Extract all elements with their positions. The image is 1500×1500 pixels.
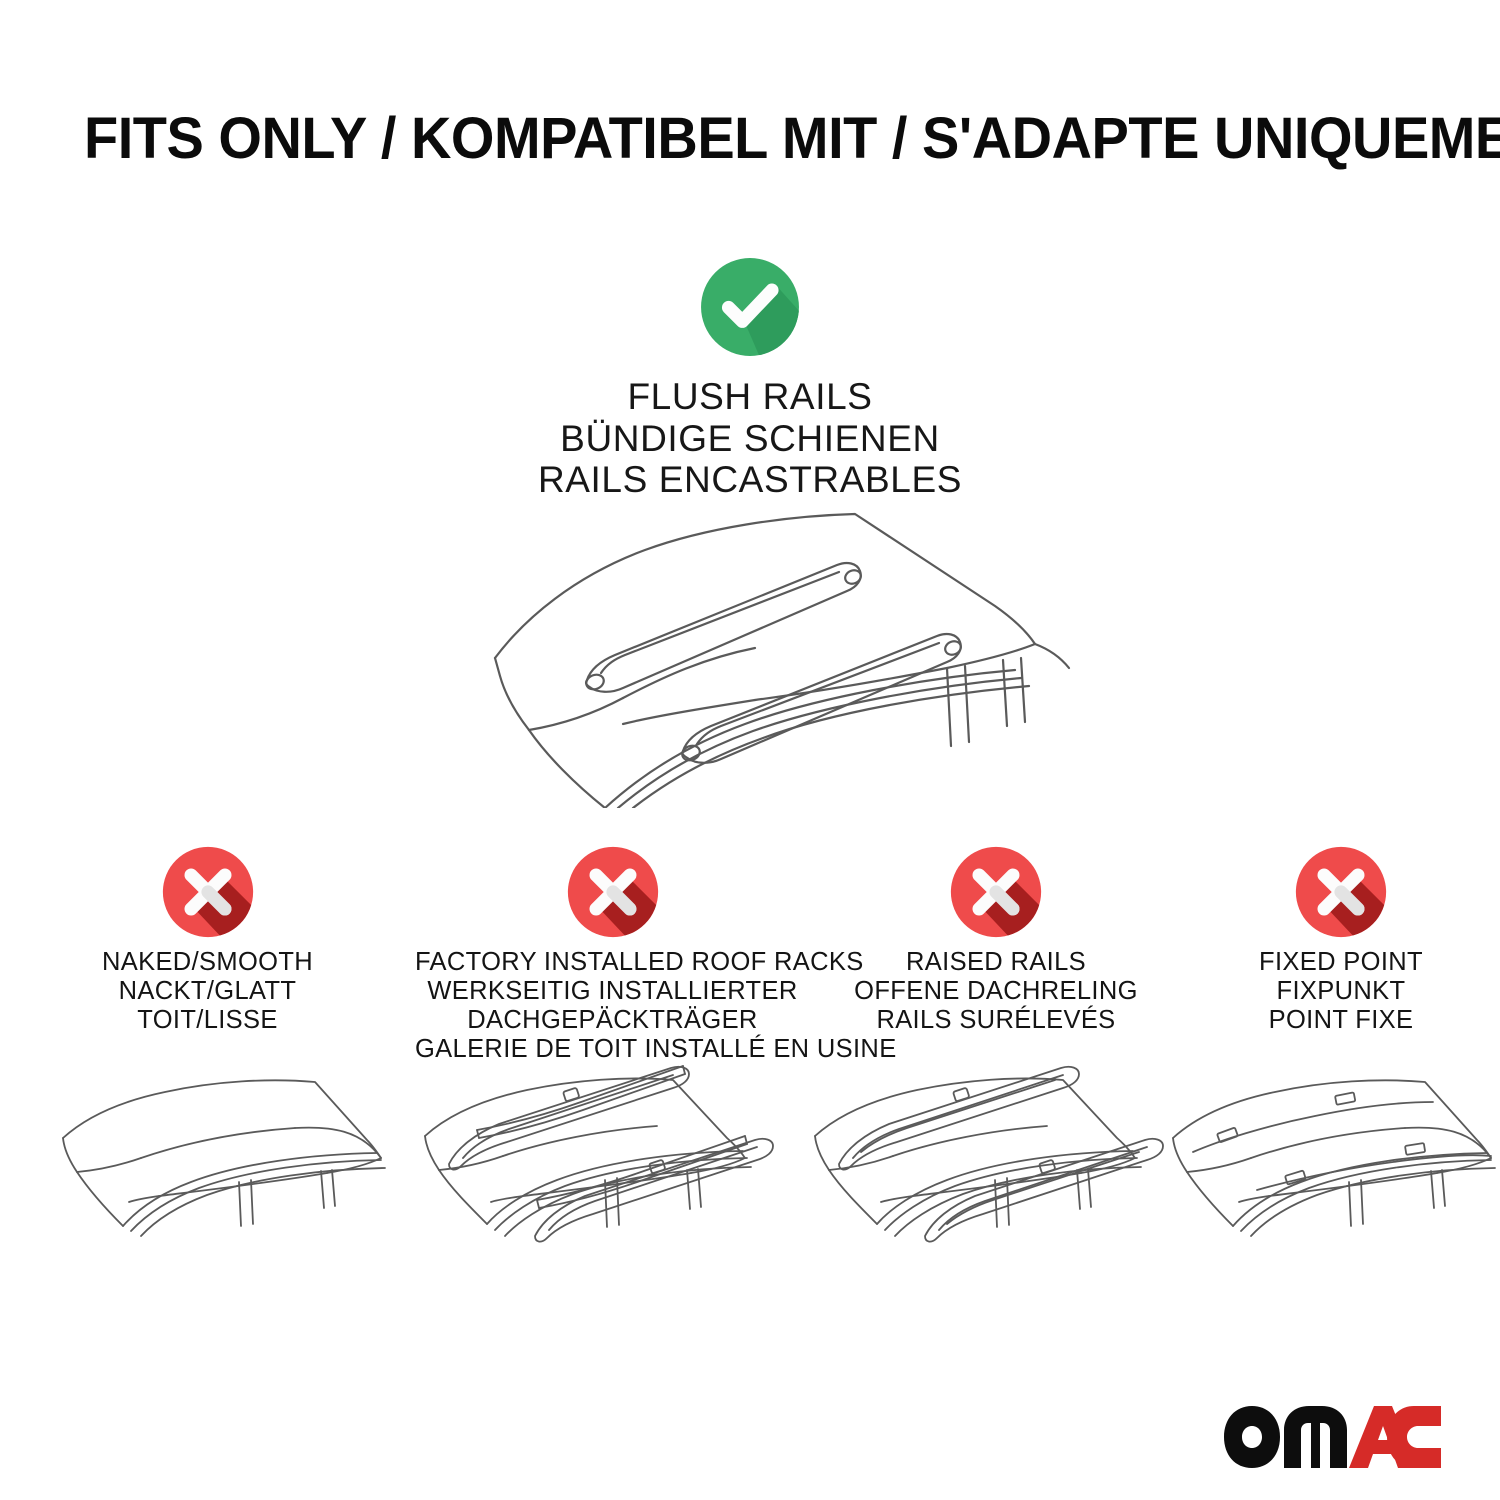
incompatible-column-factory-roof-racks: FACTORY INSTALLED ROOF RACKS WERKSEITIG … [415,845,810,1064]
incompatible-label-group: FIXED POINT FIXPUNKT POINT FIXE [1182,948,1500,1035]
incompatible-label-en: FACTORY INSTALLED ROOF RACKS [415,948,810,977]
x-circle-icon [161,845,255,939]
incompatible-label-de: FIXPUNKT [1182,977,1500,1006]
incompatible-label-de-1: WERKSEITIG INSTALLIERTER [415,977,810,1006]
incompatible-label-en: NAKED/SMOOTH [0,948,415,977]
car-roof-naked-illustration [55,1058,395,1283]
compatible-label-en: FLUSH RAILS [0,376,1500,418]
incompatible-section: NAKED/SMOOTH NACKT/GLATT TOIT/LISSE FACT… [0,845,1500,1064]
incompatible-label-de: NACKT/GLATT [0,977,415,1006]
incompatible-label-de-2: DACHGEPÄCKTRÄGER [415,1006,810,1035]
x-circle-icon [949,845,1043,939]
compatible-label-group: FLUSH RAILS BÜNDIGE SCHIENEN RAILS ENCAS… [0,376,1500,501]
incompatible-label-group: NAKED/SMOOTH NACKT/GLATT TOIT/LISSE [0,948,415,1035]
car-roof-flush-rails-illustration [455,498,1075,808]
incompatible-label-group: RAISED RAILS OFFENE DACHRELING RAILS SUR… [810,948,1182,1035]
incompatible-label-en: RAISED RAILS [810,948,1182,977]
incompatible-label-fr: TOIT/LISSE [0,1006,415,1035]
incompatible-label-en: FIXED POINT [1182,948,1500,977]
incompatible-column-fixed-point: FIXED POINT FIXPUNKT POINT FIXE [1182,845,1500,1064]
x-circle-icon [1294,845,1388,939]
compatible-label-fr: RAILS ENCASTRABLES [0,459,1500,501]
car-roof-raised-rails-illustration [805,1052,1180,1284]
incompatible-label-group: FACTORY INSTALLED ROOF RACKS WERKSEITIG … [415,948,810,1064]
car-roof-fixed-point-illustration [1165,1058,1500,1286]
incompatible-column-naked-smooth: NAKED/SMOOTH NACKT/GLATT TOIT/LISSE [0,845,415,1064]
incompatible-label-fr: RAILS SURÉLEVÉS [810,1006,1182,1035]
compatible-section: FLUSH RAILS BÜNDIGE SCHIENEN RAILS ENCAS… [0,256,1500,501]
logo-letter-m [1284,1406,1347,1468]
page-title: FITS ONLY / KOMPATIBEL MIT / S'ADAPTE UN… [84,108,1377,170]
incompatible-label-de: OFFENE DACHRELING [810,977,1182,1006]
incompatible-column-raised-rails: RAISED RAILS OFFENE DACHRELING RAILS SUR… [810,845,1182,1064]
logo-letter-o [1224,1406,1280,1468]
car-roof-factory-racks-illustration [415,1052,790,1284]
x-circle-icon [566,845,660,939]
check-circle-icon [699,256,801,358]
incompatible-label-fr: POINT FIXE [1182,1006,1500,1035]
omac-logo [1222,1404,1442,1470]
compatible-label-de: BÜNDIGE SCHIENEN [0,418,1500,460]
